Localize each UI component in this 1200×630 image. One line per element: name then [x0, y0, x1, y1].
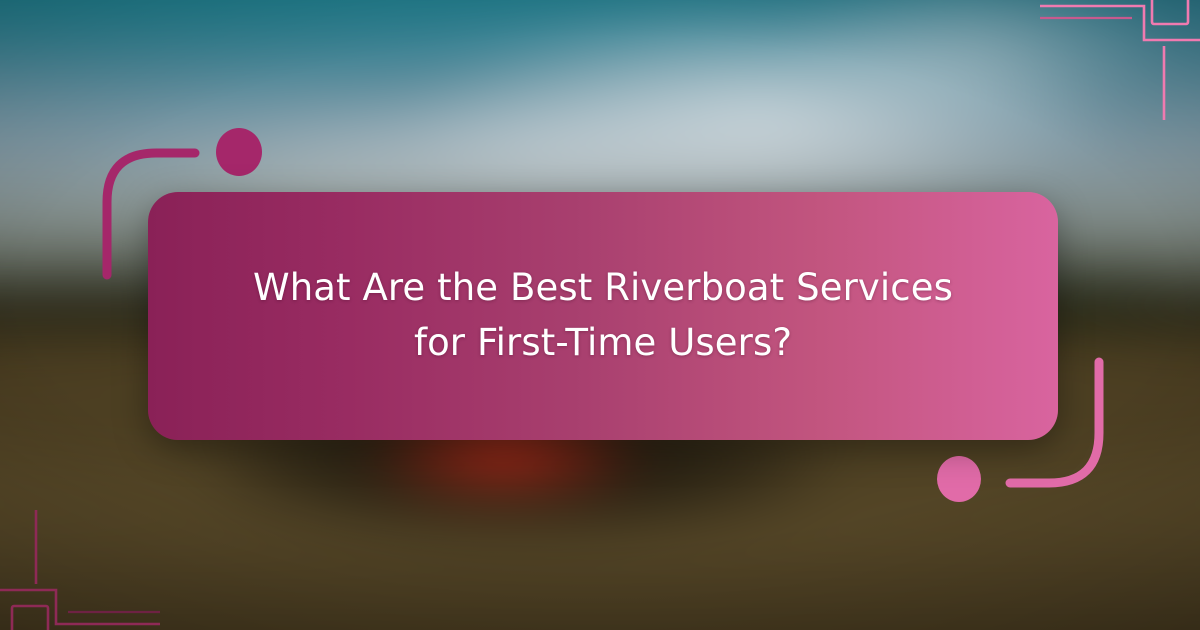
title-card: What Are the Best Riverboat Services for… — [148, 192, 1058, 440]
page-title: What Are the Best Riverboat Services for… — [223, 261, 983, 371]
share-card-canvas: What Are the Best Riverboat Services for… — [0, 0, 1200, 630]
